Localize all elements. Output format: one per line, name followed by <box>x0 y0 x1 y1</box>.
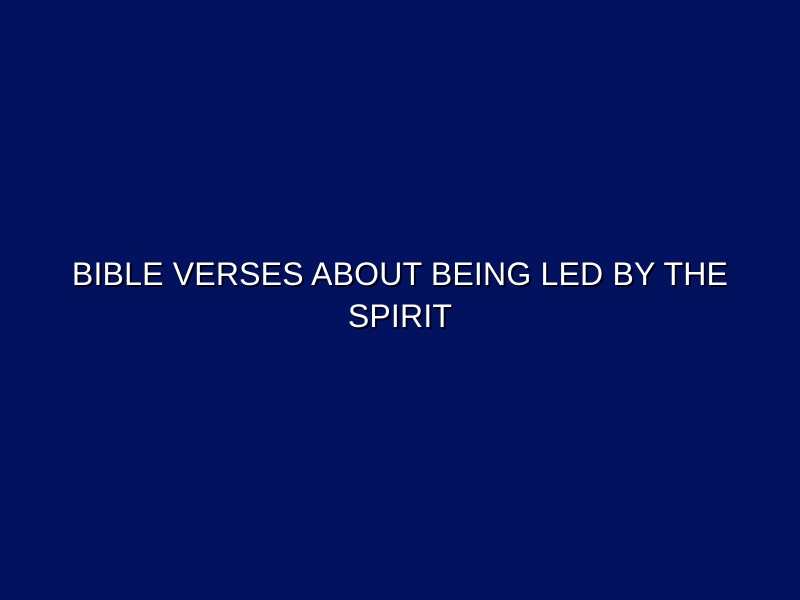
title-block: BIBLE VERSES ABOUT BEING LED BY THE SPIR… <box>50 253 750 337</box>
title-slide: BIBLE VERSES ABOUT BEING LED BY THE SPIR… <box>0 0 800 600</box>
page-title: BIBLE VERSES ABOUT BEING LED BY THE SPIR… <box>50 253 750 337</box>
